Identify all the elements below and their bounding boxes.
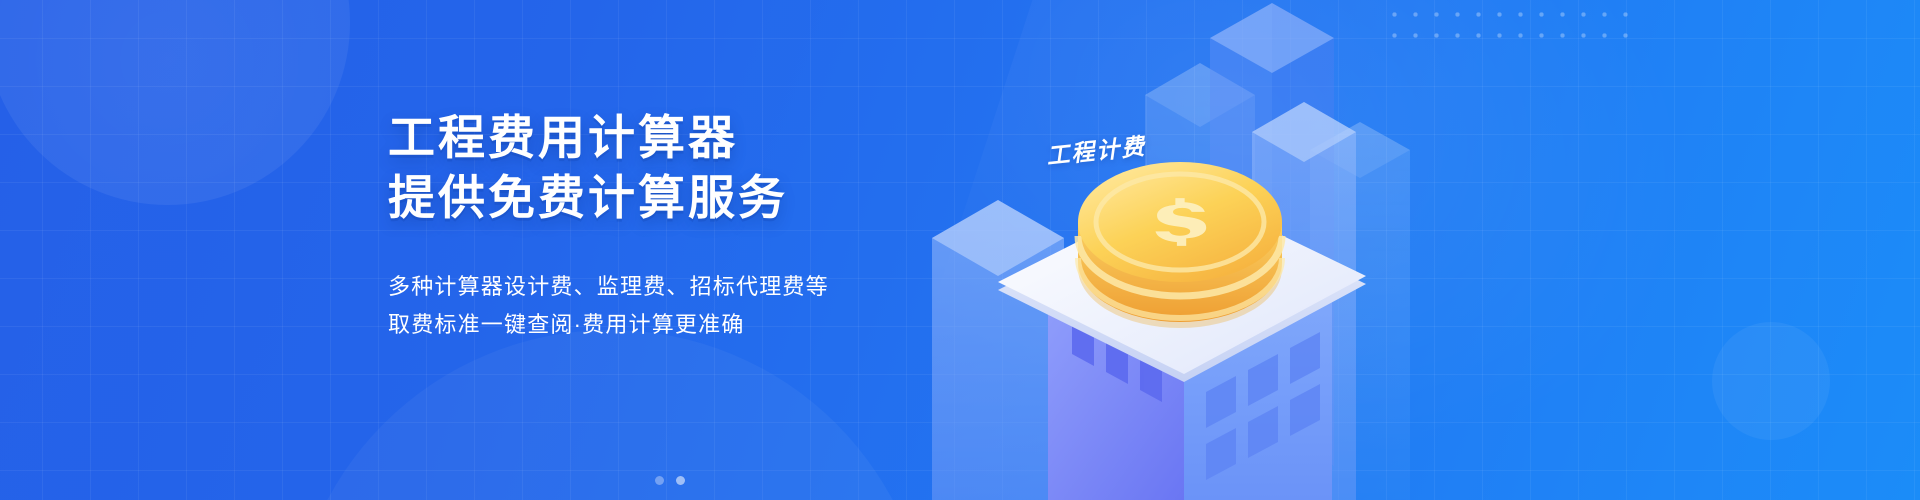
pagination-dot-2[interactable] bbox=[676, 476, 685, 485]
coin-stack-icon bbox=[1078, 162, 1282, 328]
decorative-circle-bottom-left bbox=[290, 330, 930, 500]
subtitle-line-2: 取费标准一键查阅·费用计算更准确 bbox=[388, 306, 1028, 344]
decorative-circle-top-left bbox=[0, 0, 350, 205]
hero-banner: 工程计费 工程费用计算器 提供免费计算服务 多种计算器设计费、监理费、招标代理费… bbox=[0, 0, 1920, 500]
headline-line-2: 提供免费计算服务 bbox=[388, 170, 1028, 226]
subtitle-line-1: 多种计算器设计费、监理费、招标代理费等 bbox=[388, 268, 1028, 306]
carousel-pagination[interactable] bbox=[655, 476, 685, 485]
subtitle-block: 多种计算器设计费、监理费、招标代理费等 取费标准一键查阅·费用计算更准确 bbox=[388, 268, 1028, 344]
banner-copy: 工程费用计算器 提供免费计算服务 多种计算器设计费、监理费、招标代理费等 取费标… bbox=[388, 110, 1028, 344]
pagination-dot-1[interactable] bbox=[655, 476, 664, 485]
headline-line-1: 工程费用计算器 bbox=[388, 110, 1028, 166]
hero-illustration bbox=[880, 0, 1920, 500]
